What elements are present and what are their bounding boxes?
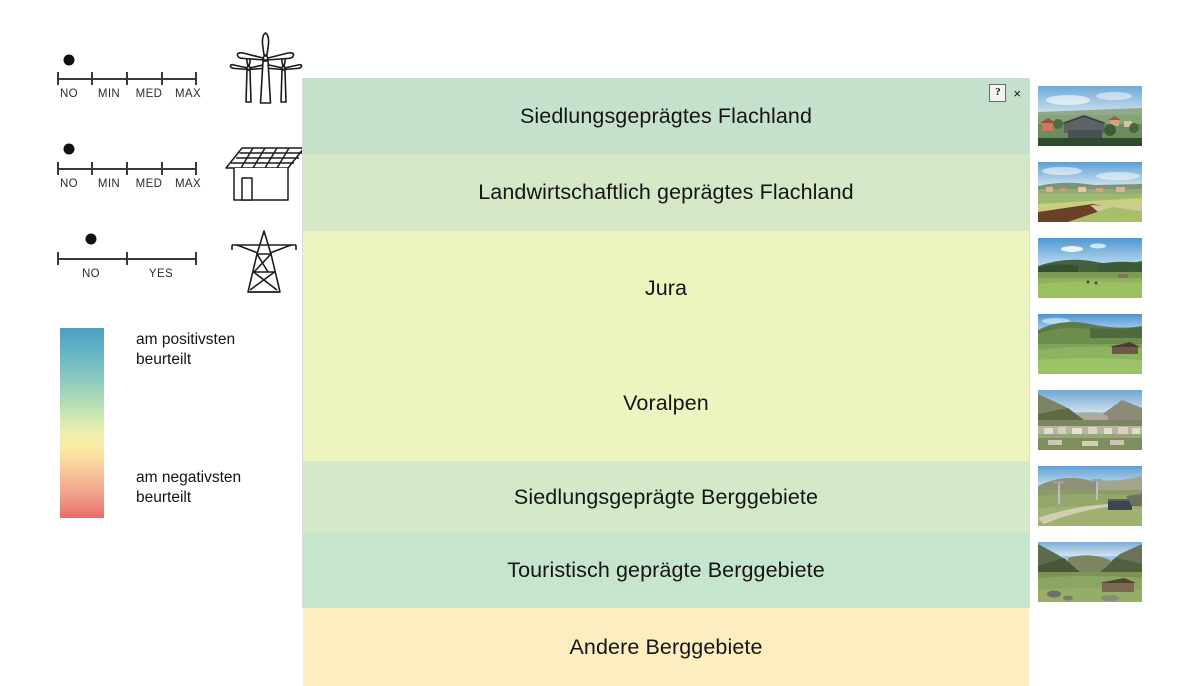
landscape-band-siedlungsgepraegtes-flachland[interactable]: Siedlungsgeprägtes Flachland: [303, 78, 1029, 154]
thumbnail-farmland-fields-village[interactable]: [1038, 162, 1142, 222]
slider-option-label[interactable]: NO: [60, 88, 78, 100]
band-label: Voralpen: [623, 391, 709, 416]
legend-negative-line2: beurteilt: [136, 489, 191, 506]
panel-window-controls: ? ×: [989, 84, 1021, 102]
slider-option-label[interactable]: NO: [60, 178, 78, 190]
slider-axis-solar[interactable]: NO MIN MED MAX: [57, 158, 197, 180]
landscape-band-voralpen[interactable]: Voralpen: [303, 346, 1029, 461]
landscape-evaluation-screen: NO MIN MED MAX: [0, 0, 1194, 672]
axis-tick: [195, 162, 197, 175]
solar-panel-house-icon: [222, 142, 308, 209]
slider-option-label[interactable]: MAX: [175, 178, 201, 190]
thumbnail-remote-alpine-valley-hut[interactable]: [1038, 542, 1142, 602]
thumbnail-village-houses-countryside[interactable]: [1038, 86, 1142, 146]
slider-option-label[interactable]: MED: [136, 178, 163, 190]
slider-option-label[interactable]: YES: [149, 268, 173, 280]
axis-tick: [126, 252, 128, 265]
help-button[interactable]: ?: [989, 84, 1006, 102]
slider-axis-power[interactable]: NO YES: [57, 248, 197, 270]
band-label: Jura: [645, 276, 687, 301]
slider-option-label[interactable]: MAX: [175, 88, 201, 100]
axis-tick: [57, 162, 59, 175]
thumbnail-ski-lift-alpine-station[interactable]: [1038, 466, 1142, 526]
legend-negative-label: am negativsten beurteilt: [136, 468, 241, 509]
legend-positive-line1: am positivsten: [136, 331, 235, 348]
slider-option-label[interactable]: MIN: [98, 178, 120, 190]
thumbnail-prealpine-green-slope[interactable]: [1038, 314, 1142, 374]
legend-positive-label: am positivsten beurteilt: [136, 330, 235, 371]
axis-tick: [195, 72, 197, 85]
axis-tick: [91, 72, 93, 85]
band-label: Touristisch geprägte Berggebiete: [507, 558, 825, 583]
band-label: Siedlungsgeprägtes Flachland: [520, 104, 812, 129]
close-icon[interactable]: ×: [1013, 87, 1021, 100]
axis-tick: [57, 252, 59, 265]
landscape-band-andere-berggebiete[interactable]: Andere Berggebiete: [303, 608, 1029, 686]
slider-thumb-solar[interactable]: [64, 144, 75, 155]
thumbnail-mountain-town-valley[interactable]: [1038, 390, 1142, 450]
landscape-band-siedlungsgepraegte-berggebiete[interactable]: Siedlungsgeprägte Berggebiete: [303, 461, 1029, 533]
axis-tick: [57, 72, 59, 85]
legend-positive-line2: beurteilt: [136, 351, 191, 368]
color-gradient-bar: [60, 328, 104, 518]
thumbnail-jura-wooded-hills-meadow[interactable]: [1038, 238, 1142, 298]
color-scale-legend: am positivsten beurteilt am negativsten …: [60, 328, 104, 518]
slider-option-label[interactable]: MIN: [98, 88, 120, 100]
axis-tick: [161, 72, 163, 85]
landscape-band-landwirtschaftlich-gepraegtes-flachland[interactable]: Landwirtschaftlich geprägtes Flachland: [303, 154, 1029, 231]
band-label: Siedlungsgeprägte Berggebiete: [514, 485, 818, 510]
power-pylon-icon: [228, 228, 300, 301]
slider-axis-wind[interactable]: NO MIN MED MAX: [57, 68, 197, 90]
axis-tick: [126, 162, 128, 175]
landscape-band-jura[interactable]: Jura: [303, 231, 1029, 346]
legend-negative-line1: am negativsten: [136, 469, 241, 486]
slider-thumb-wind[interactable]: [64, 55, 75, 66]
band-label: Andere Berggebiete: [569, 635, 762, 660]
slider-option-label[interactable]: MED: [136, 88, 163, 100]
axis-tick: [161, 162, 163, 175]
slider-option-label[interactable]: NO: [82, 268, 100, 280]
landscape-band-touristisch-gepraegte-berggebiete[interactable]: Touristisch geprägte Berggebiete: [303, 533, 1029, 608]
wind-turbine-icon: [223, 32, 307, 111]
slider-thumb-power[interactable]: [86, 234, 97, 245]
band-label: Landwirtschaftlich geprägtes Flachland: [478, 180, 853, 205]
axis-tick: [195, 252, 197, 265]
landscape-type-panel: Siedlungsgeprägtes Flachland Landwirtsch…: [302, 78, 1030, 608]
axis-tick: [91, 162, 93, 175]
axis-tick: [126, 72, 128, 85]
